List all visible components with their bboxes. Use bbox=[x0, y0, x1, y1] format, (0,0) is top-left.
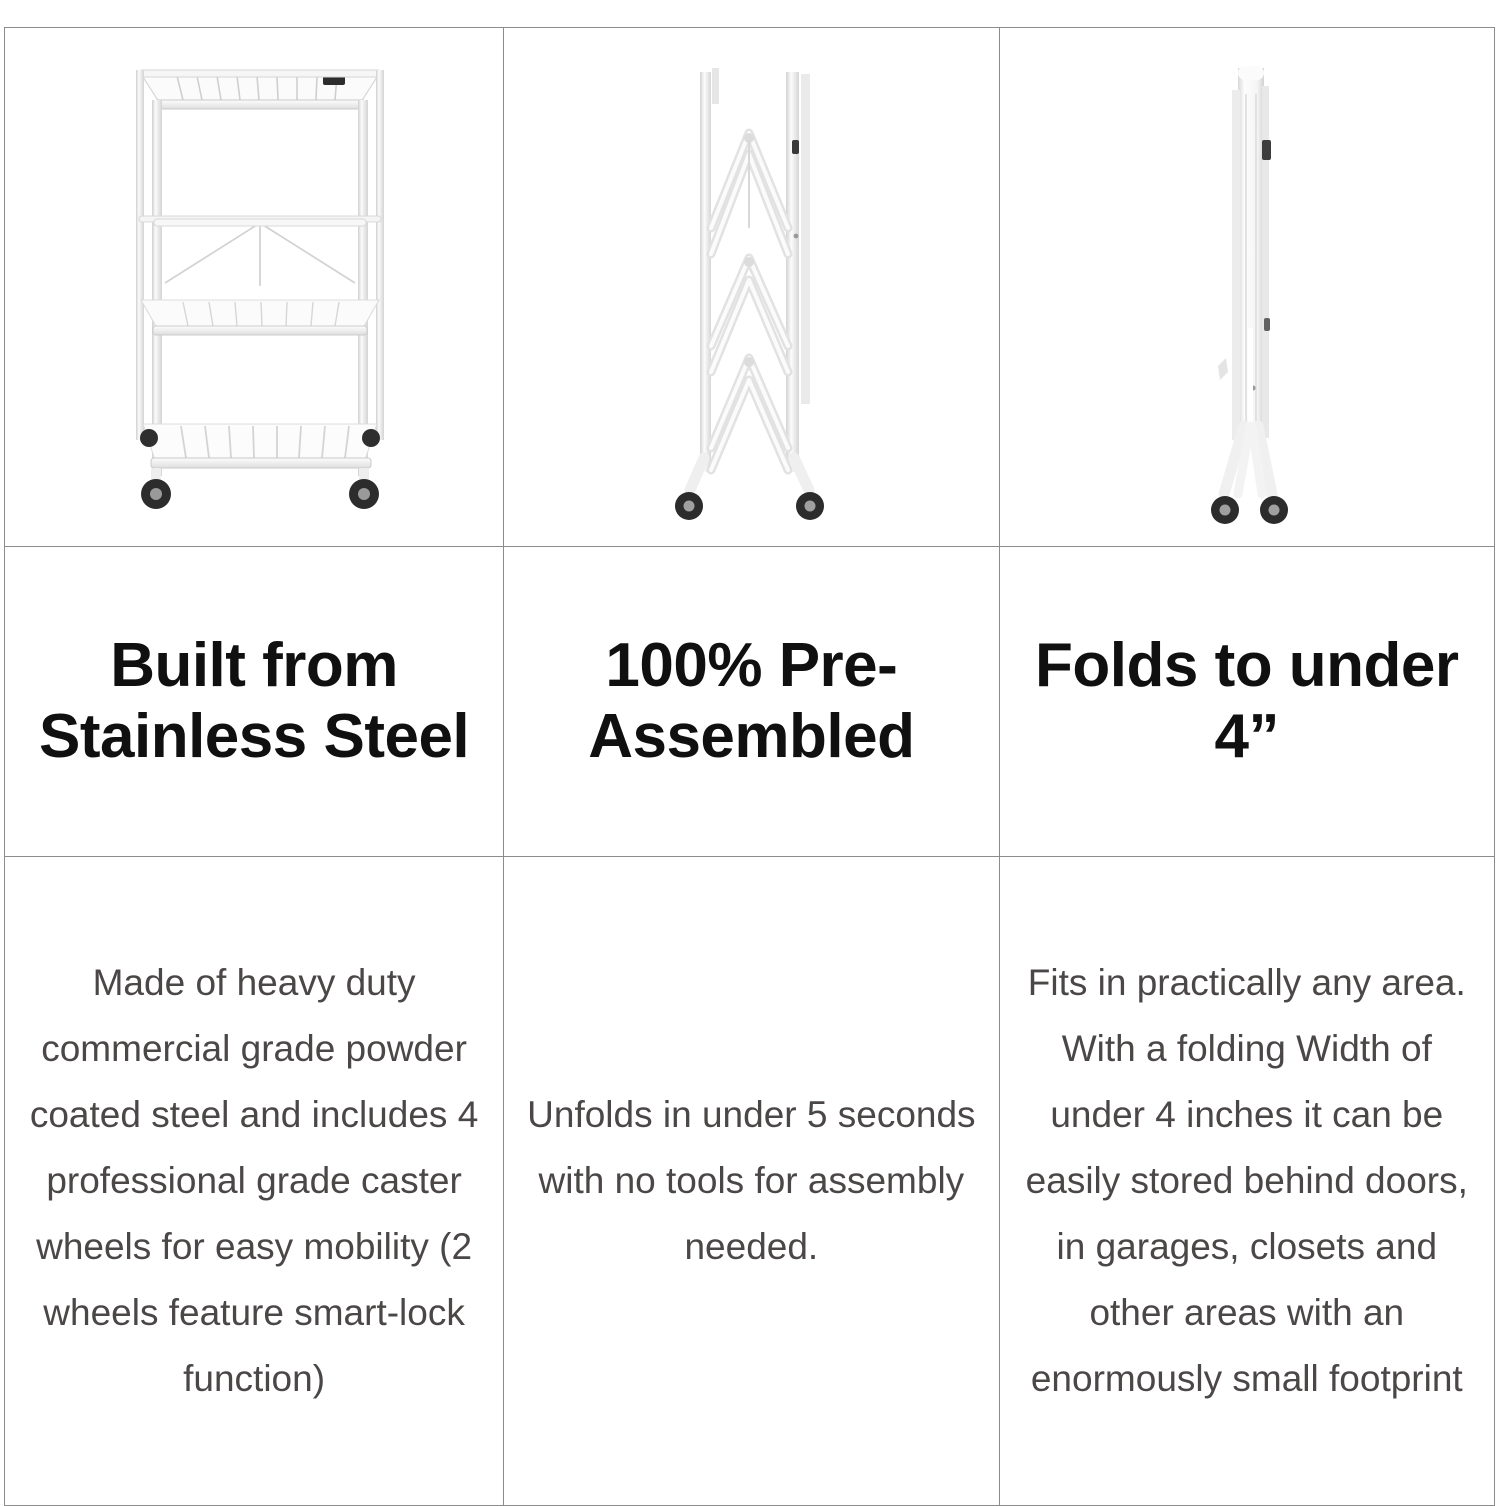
feature-table: Built from Stainless Steel 100% Pre-Asse… bbox=[4, 27, 1495, 1506]
product-image-cell-assembled bbox=[5, 28, 504, 547]
headline-cell-stainless-steel: Built from Stainless Steel bbox=[5, 547, 504, 857]
partially-folded-shelving-rack-icon bbox=[504, 28, 999, 546]
description-cell-stainless-steel: Made of heavy duty commercial grade powd… bbox=[5, 857, 504, 1506]
product-image-cell-folded bbox=[999, 28, 1494, 547]
folding-rack-illustration bbox=[504, 28, 998, 546]
assembled-rack-illustration bbox=[5, 28, 503, 546]
description-cell-folds-under-4: Fits in practically any area. With a fol… bbox=[999, 857, 1494, 1506]
description-pre-assembled: Unfolds in under 5 seconds with no tools… bbox=[522, 1082, 980, 1280]
description-cell-pre-assembled: Unfolds in under 5 seconds with no tools… bbox=[504, 857, 999, 1506]
description-stainless-steel: Made of heavy duty commercial grade powd… bbox=[23, 950, 485, 1411]
headline-cell-pre-assembled: 100% Pre-Assembled bbox=[504, 547, 999, 857]
headline-cell-folds-under-4: Folds to under 4” bbox=[999, 547, 1494, 857]
headline-pre-assembled: 100% Pre-Assembled bbox=[518, 631, 984, 772]
folded-rack-illustration bbox=[1000, 28, 1494, 546]
description-row: Made of heavy duty commercial grade powd… bbox=[5, 857, 1495, 1506]
headline-folds-under-4: Folds to under 4” bbox=[1014, 631, 1480, 772]
feature-comparison-page: Built from Stainless Steel 100% Pre-Asse… bbox=[0, 0, 1500, 1500]
assembled-shelving-rack-icon bbox=[5, 28, 504, 546]
product-image-cell-folding bbox=[504, 28, 999, 547]
product-image-row bbox=[5, 28, 1495, 547]
headline-row: Built from Stainless Steel 100% Pre-Asse… bbox=[5, 547, 1495, 857]
description-folds-under-4: Fits in practically any area. With a fol… bbox=[1018, 950, 1476, 1411]
headline-stainless-steel: Built from Stainless Steel bbox=[19, 631, 489, 772]
fully-folded-shelving-rack-icon bbox=[1000, 28, 1495, 546]
